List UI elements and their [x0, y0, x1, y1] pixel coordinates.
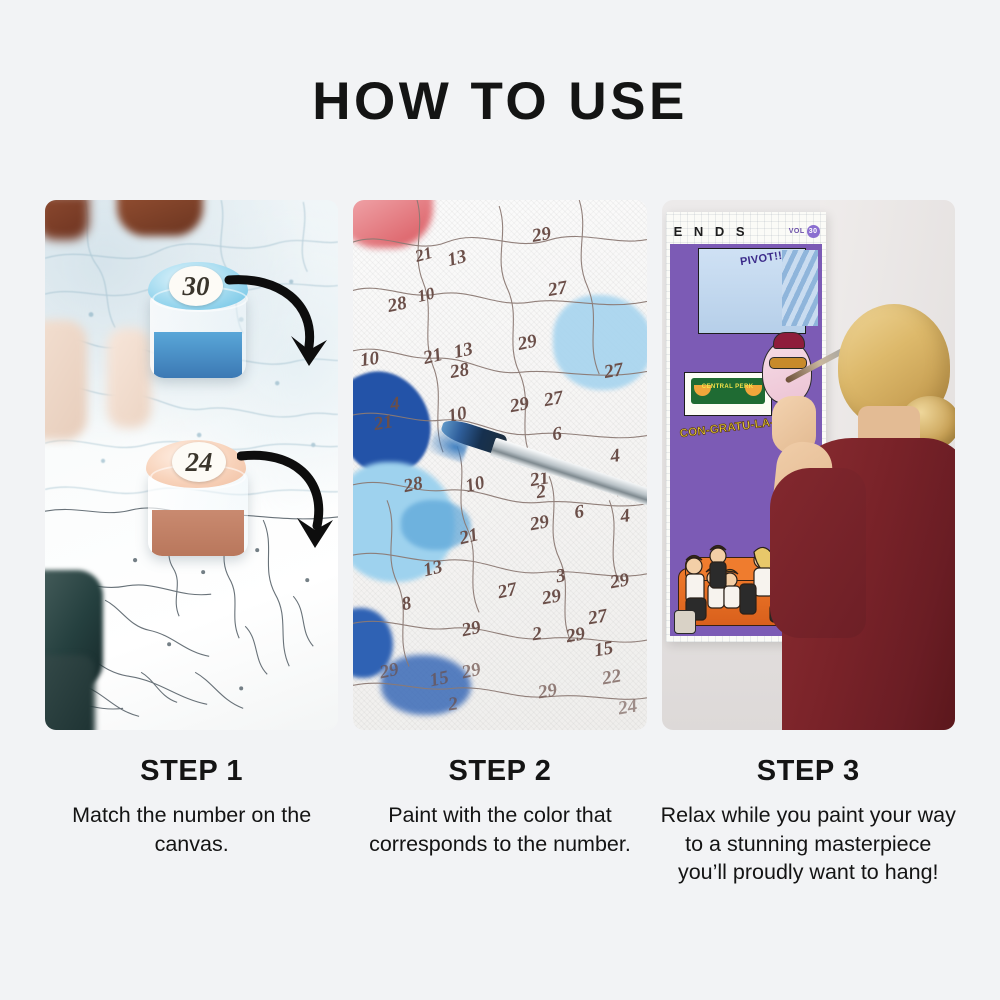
svg-text:29: 29: [459, 617, 483, 642]
svg-text:15: 15: [593, 637, 616, 661]
svg-text:29: 29: [608, 569, 632, 593]
page-title: HOW TO USE: [0, 74, 1000, 130]
step-3-heading: STEP 3: [757, 757, 860, 786]
step-2-photo: 29 13 27 21 28 10 10 21 13 28 29 27 4 21: [353, 200, 646, 730]
paint-pot-24-fill: [152, 510, 244, 556]
svg-text:29: 29: [530, 223, 554, 247]
svg-text:15: 15: [428, 667, 451, 692]
artwork-volume-badge: VOL 30: [789, 225, 820, 238]
turkey-hat: [773, 332, 805, 349]
paint-pot-30-number-label: 30: [169, 266, 223, 306]
step-3-photo: E N D S VOL 30 PIVOT!! CENTRAL: [662, 200, 955, 730]
svg-text:4: 4: [608, 445, 621, 467]
artwork-cat: [674, 610, 696, 634]
svg-text:27: 27: [602, 359, 627, 383]
blurred-pale-pot-right: [107, 328, 151, 428]
svg-text:21: 21: [457, 524, 481, 549]
svg-text:27: 27: [495, 578, 520, 603]
blurred-brown-pot-left: [45, 200, 89, 240]
paint-pot-24: 24: [148, 440, 248, 564]
svg-text:8: 8: [400, 593, 414, 616]
svg-text:28: 28: [385, 292, 409, 317]
shirt-sleeve: [770, 468, 866, 638]
paint-pot-24-number-label: 24: [172, 442, 226, 482]
how-to-use-infographic: HOW TO USE: [0, 0, 1000, 1000]
svg-text:4: 4: [618, 505, 631, 527]
step-card-1: 30 24: [45, 200, 338, 887]
svg-text:2: 2: [446, 693, 460, 715]
artwork-title: E N D S: [674, 224, 749, 239]
steps-container: 30 24: [45, 200, 955, 887]
svg-text:27: 27: [546, 277, 571, 301]
svg-text:29: 29: [459, 659, 483, 684]
artwork-volume-number: 30: [807, 225, 820, 238]
central-perk-text: CENTRAL PERK: [685, 384, 771, 390]
turkey-sunglasses: [769, 357, 807, 369]
svg-text:13: 13: [446, 246, 470, 271]
step-3-description: Relax while you paint your way to a stun…: [658, 801, 958, 887]
svg-text:29: 29: [515, 330, 539, 355]
svg-text:3: 3: [554, 565, 568, 588]
step-1-description: Match the number on the canvas.: [42, 801, 342, 858]
svg-text:21: 21: [421, 344, 445, 369]
svg-text:28: 28: [448, 359, 472, 383]
blurred-dark-teal-pot-lower: [45, 655, 95, 730]
svg-text:29: 29: [528, 511, 552, 535]
svg-text:29: 29: [377, 659, 401, 684]
arrow-from-pot-24: [237, 448, 338, 560]
artwork-volume-label: VOL: [789, 228, 805, 235]
svg-text:6: 6: [573, 501, 586, 523]
svg-text:13: 13: [421, 556, 445, 581]
svg-text:29: 29: [540, 585, 564, 609]
svg-text:27: 27: [586, 605, 611, 629]
blurred-brown-pot-top: [117, 200, 203, 236]
arrow-from-pot-30: [223, 270, 331, 378]
svg-text:29: 29: [564, 623, 588, 647]
step-card-3: E N D S VOL 30 PIVOT!! CENTRAL: [662, 200, 955, 887]
svg-text:27: 27: [542, 387, 567, 411]
svg-text:10: 10: [416, 283, 438, 306]
svg-text:10: 10: [359, 348, 381, 372]
svg-text:24: 24: [616, 695, 639, 719]
numbered-canvas-regions: 29 13 27 21 28 10 10 21 13 28 29 27 4 21: [353, 200, 646, 730]
svg-text:21: 21: [412, 243, 435, 266]
svg-text:6: 6: [551, 423, 564, 445]
svg-text:29: 29: [536, 679, 560, 703]
artwork-staircase: [782, 250, 818, 326]
svg-text:2: 2: [530, 623, 544, 645]
step-card-2: 29 13 27 21 28 10 10 21 13 28 29 27 4 21: [353, 200, 646, 887]
svg-text:22: 22: [600, 665, 624, 689]
step-1-photo: 30 24: [45, 200, 338, 730]
artwork-central-perk-sign: CENTRAL PERK: [684, 372, 772, 416]
svg-text:28: 28: [401, 473, 425, 498]
svg-text:21: 21: [372, 411, 395, 435]
blurred-pale-pot-left: [45, 320, 87, 440]
step-2-description: Paint with the color that corresponds to…: [350, 801, 650, 858]
step-1-heading: STEP 1: [140, 757, 243, 786]
step-2-heading: STEP 2: [448, 757, 551, 786]
svg-text:29: 29: [508, 393, 532, 417]
